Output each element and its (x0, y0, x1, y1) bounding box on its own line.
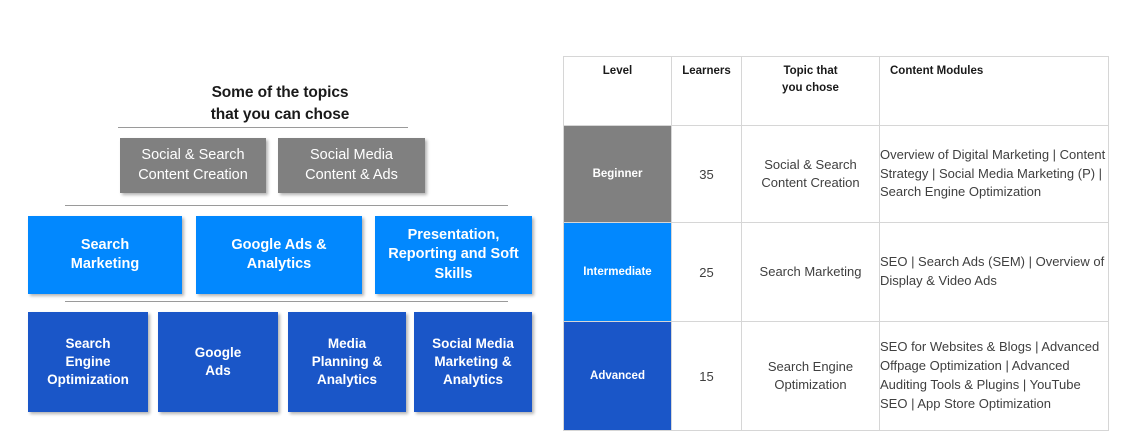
topic-chip-label-line-2: Content & Ads (305, 167, 398, 183)
topic-chip-media-planning-analytics[interactable]: Media Planning & Analytics (288, 312, 406, 412)
divider-top (118, 127, 408, 128)
topic-chip-label-line-1: Media (328, 336, 366, 351)
topic-chip-label-line-2: Ads (205, 363, 231, 378)
topic-chip-label: Search Marketing (34, 236, 176, 275)
chosen-topic-line-2: Content Creation (761, 175, 859, 190)
level-badge-advanced: Advanced (564, 322, 672, 431)
content-modules: Overview of Digital Marketing | Content … (880, 126, 1109, 223)
learners-count: 15 (672, 322, 742, 431)
table-row: Beginner 35 Social & Search Content Crea… (564, 126, 1109, 223)
topic-chip-social-media-content-ads[interactable]: Social Media Content & Ads (278, 138, 425, 193)
topic-chip-label-line-1: Social Media (310, 147, 393, 163)
level-badge-intermediate: Intermediate (564, 223, 672, 322)
learners-count: 25 (672, 223, 742, 322)
topic-chip-search-engine-optimization[interactable]: Search Engine Optimization (28, 312, 148, 412)
table-body: Beginner 35 Social & Search Content Crea… (564, 126, 1109, 431)
topic-chip-label-line-2: Reporting and Soft (388, 246, 519, 262)
chosen-topic: Search Engine Optimization (742, 322, 880, 431)
topic-chip-presentation-reporting-soft-skills[interactable]: Presentation, Reporting and Soft Skills (375, 216, 532, 294)
levels-table: Level Learners Topic that you chose Cont… (563, 56, 1109, 431)
topic-chip-label-line-1: Search (65, 336, 110, 351)
topic-chip-label: Media Planning & Analytics (294, 335, 400, 390)
learners-count: 35 (672, 126, 742, 223)
topic-chip-label: Social Media Marketing & Analytics (420, 335, 526, 390)
topic-chip-label: Presentation, Reporting and Soft Skills (381, 226, 526, 284)
topic-chip-label-line-2: Content Creation (138, 167, 248, 183)
topic-chip-search-marketing[interactable]: Search Marketing (28, 216, 182, 294)
column-header-learners: Learners (672, 57, 742, 126)
topic-chip-google-ads[interactable]: Google Ads (158, 312, 278, 412)
topic-chip-label-line-1: Social Media (432, 336, 514, 351)
column-header-level: Level (564, 57, 672, 126)
chosen-topic-line-1: Search Engine (768, 359, 853, 374)
topic-chip-label-line-2: Planning & (312, 354, 383, 369)
table-row: Advanced 15 Search Engine Optimization S… (564, 322, 1109, 431)
content-modules: SEO for Websites & Blogs | Advanced Offp… (880, 322, 1109, 431)
chosen-topic-line-1: Social & Search (764, 157, 857, 172)
divider-middle (65, 205, 508, 206)
chosen-topic: Social & Search Content Creation (742, 126, 880, 223)
chosen-topic: Search Marketing (742, 223, 880, 322)
topic-chip-label-line-2: Analytics (247, 256, 311, 272)
topic-chip-label: Google Ads & Analytics (202, 236, 356, 275)
topic-chip-label-line-2: Marketing & (434, 354, 511, 369)
column-header-topic-line-1: Topic that (783, 65, 837, 77)
topic-chip-label-line-1: Presentation, (408, 227, 500, 243)
topic-chip-label: Google Ads (164, 344, 272, 380)
topic-chip-social-search-content-creation[interactable]: Social & Search Content Creation (120, 138, 266, 193)
table-header: Level Learners Topic that you chose Cont… (564, 57, 1109, 126)
column-header-topic-line-2: you chose (782, 82, 839, 94)
topic-chip-label-line-1: Search (81, 237, 129, 253)
topics-panel: Some of the topics that you can chose So… (0, 0, 560, 446)
topic-chip-google-ads-analytics[interactable]: Google Ads & Analytics (196, 216, 362, 294)
topic-chip-label-line-2: Engine (65, 354, 110, 369)
level-badge-beginner: Beginner (564, 126, 672, 223)
column-header-content-modules: Content Modules (880, 57, 1109, 126)
topic-chip-label: Social & Search Content Creation (126, 146, 260, 184)
page-title-line-2: that you can chose (130, 104, 430, 126)
topic-chip-label: Social Media Content & Ads (284, 146, 419, 184)
topic-chip-label-line-3: Analytics (443, 372, 503, 387)
topic-chip-label-line-3: Skills (435, 266, 473, 282)
topic-chip-label-line-3: Analytics (317, 372, 377, 387)
chosen-topic-line-2: Optimization (774, 377, 846, 392)
divider-lower (65, 301, 508, 302)
topic-chip-label: Search Engine Optimization (34, 335, 142, 390)
page-title: Some of the topics that you can chose (130, 82, 430, 126)
content-modules: SEO | Search Ads (SEM) | Overview of Dis… (880, 223, 1109, 322)
table-row: Intermediate 25 Search Marketing SEO | S… (564, 223, 1109, 322)
topic-chip-label-line-2: Marketing (71, 256, 140, 272)
topic-chip-label-line-3: Optimization (47, 372, 129, 387)
topic-chip-social-media-marketing-analytics[interactable]: Social Media Marketing & Analytics (414, 312, 532, 412)
table-header-row: Level Learners Topic that you chose Cont… (564, 57, 1109, 126)
topic-chip-label-line-1: Google Ads & (231, 237, 326, 253)
topic-chip-label-line-1: Social & Search (141, 147, 244, 163)
topic-chip-label-line-1: Google (195, 345, 242, 360)
column-header-topic: Topic that you chose (742, 57, 880, 126)
page-title-line-1: Some of the topics (130, 82, 430, 104)
